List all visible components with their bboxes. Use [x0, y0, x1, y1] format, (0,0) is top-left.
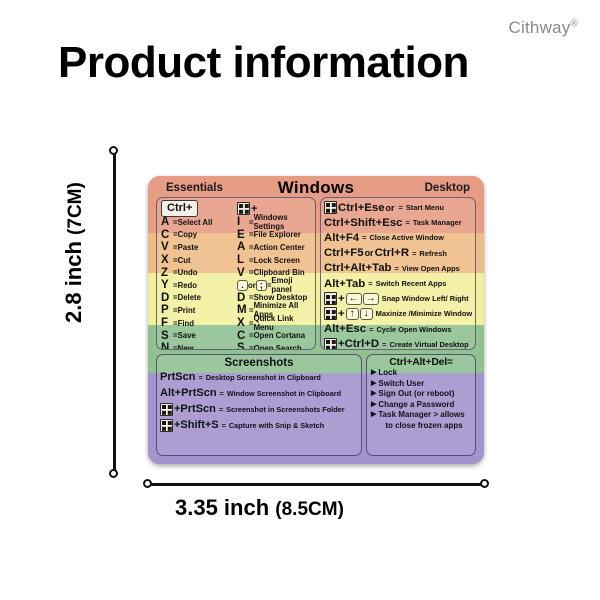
shortcut-description: Desktop Screenshot in Clipboard — [206, 373, 321, 382]
width-ruler-endpoint-right — [480, 479, 489, 488]
shortcut-keys: +Ctrl+D — [338, 338, 379, 350]
shortcut-description: Open Cortana — [254, 331, 306, 340]
shortcut-row: Ctrl+Shift+Esc=Task Manager — [324, 215, 473, 230]
shortcut-key: C — [161, 229, 173, 241]
shortcut-description: Windows Settings — [254, 213, 315, 231]
list-item-label: Switch User — [378, 379, 424, 390]
or-label: or — [248, 281, 256, 290]
shortcut-row: S=Open Search — [237, 342, 315, 350]
registered-mark: ® — [570, 18, 578, 29]
width-ruler-line — [147, 483, 484, 486]
windows-logo-icon — [324, 201, 337, 214]
height-ruler-endpoint-bottom — [109, 469, 118, 478]
shortcut-combo: +←→ — [324, 292, 379, 305]
shortcut-key: N — [161, 342, 173, 350]
shortcut-row: C=Open Cortana — [237, 329, 315, 342]
shortcut-key: C — [237, 330, 249, 342]
shortcut-key: D — [237, 292, 249, 304]
plus-sign: + — [338, 293, 345, 305]
equals-sign: = — [368, 279, 372, 288]
shortcut-key: A — [237, 241, 249, 253]
or-label: or — [365, 248, 374, 258]
shortcut-keys: Ctrl+Ese — [338, 202, 385, 214]
shortcut-combo: +↑↓ — [324, 307, 373, 320]
plus-sign: + — [338, 308, 345, 320]
shortcut-key: A — [161, 216, 173, 228]
shortcut-row: Ctrl+Ese or =Start Menu — [324, 200, 473, 215]
bullet-triangle-icon: ▶ — [371, 368, 376, 379]
shortcut-description: Snap Window Left/ Right — [382, 294, 469, 303]
equals-sign: = — [362, 233, 366, 242]
shortcut-description: Open Search — [254, 344, 302, 350]
ctrl-shortcut-list: A=Select AllC=CopyV=PasteX=CutZ=UndoY=Re… — [161, 216, 235, 350]
shortcut-description: Undo — [178, 268, 198, 277]
shortcut-keys: +Shift+S — [174, 419, 219, 431]
shortcut-row: . or ;=Emoji panel — [237, 279, 315, 292]
arrow-keycap: ↓ — [360, 308, 373, 320]
width-ruler-endpoint-left — [143, 479, 152, 488]
shortcut-key: V — [237, 267, 249, 279]
windows-logo-icon — [324, 292, 337, 305]
shortcut-keys: Ctrl+F5 — [324, 247, 364, 259]
shortcut-keys: Ctrl+Shift+Esc — [324, 217, 403, 229]
shortcut-combo: Alt+PrtScn — [160, 387, 217, 399]
shortcut-description: Print — [178, 306, 196, 315]
equals-sign: = — [382, 340, 386, 349]
shortcut-description: Window Screenshot in Clipboard — [227, 389, 341, 398]
shortcut-description: Action Center — [254, 243, 305, 252]
windows-logo-icon — [324, 307, 337, 320]
brand-name: Cithway — [509, 18, 571, 37]
shortcut-description: Save — [178, 331, 196, 340]
equals-sign: = — [395, 264, 399, 273]
windows-logo-icon — [237, 202, 250, 215]
essentials-win-column: + I=Windows SettingsE=File ExplorerA=Act… — [237, 201, 315, 350]
width-inch-value: 3.35 inch — [175, 495, 269, 520]
windows-logo-icon — [160, 403, 173, 416]
shortcut-combo: Alt+Esc — [324, 323, 366, 335]
screenshots-title: Screenshots — [157, 357, 361, 369]
shortcut-keys: Alt+Tab — [324, 278, 365, 290]
shortcut-combo: +PrtScn — [160, 403, 216, 416]
equals-sign: = — [399, 203, 403, 212]
panel-desktop: Ctrl+Ese or =Start MenuCtrl+Shift+Esc=Ta… — [320, 197, 476, 350]
bullet-triangle-icon: ▶ — [371, 389, 376, 400]
shortcut-description: Task Manager — [413, 218, 462, 227]
width-dimension-label: 3.35 inch (8.5CM) — [175, 495, 344, 521]
shortcut-description: Switch Recent Apps — [376, 279, 447, 288]
list-item: ▶Switch User — [367, 379, 475, 390]
shortcut-key: X — [237, 317, 249, 329]
bullet-triangle-icon: ▶ — [371, 410, 376, 421]
shortcut-description: Close Active Window — [369, 233, 443, 242]
shortcut-combo: +Ctrl+D — [324, 338, 379, 350]
shortcut-combo: +Shift+S — [160, 419, 219, 432]
desktop-shortcut-list: Ctrl+Ese or =Start MenuCtrl+Shift+Esc=Ta… — [324, 200, 473, 350]
shortcut-combo: Ctrl+Ese or — [324, 201, 396, 214]
shortcut-row: +←→Snap Window Left/ Right — [324, 291, 473, 306]
shortcut-description: Cut — [178, 256, 191, 265]
width-cm-value: (8.5CM) — [275, 499, 344, 520]
equals-sign: = — [220, 389, 224, 398]
height-inch-value: 2.8 inch — [61, 241, 86, 323]
list-item: ▶Task Manager > allows — [367, 410, 475, 421]
shortcut-description: Create Virtual Desktop — [389, 340, 468, 349]
shortcut-row: C=Copy — [161, 229, 235, 242]
shortcut-description: Refresh — [419, 249, 447, 258]
ctrl-alt-del-list: ▶Lock▶Switch User▶Sign Out (or reboot)▶C… — [367, 368, 475, 421]
section-label-desktop: Desktop — [425, 182, 470, 194]
shortcut-key: D — [161, 292, 173, 304]
shortcut-description: Select All — [178, 218, 213, 227]
shortcut-row: N=New — [161, 342, 235, 350]
list-item: ▶Change a Password — [367, 400, 475, 411]
shortcut-key: S — [237, 342, 249, 350]
equals-sign: = — [198, 373, 202, 382]
panel-ctrl-alt-del: Ctrl+Alt+Del= ▶Lock▶Switch User▶Sign Out… — [366, 354, 476, 456]
bullet-triangle-icon: ▶ — [371, 379, 376, 390]
brand-logo: Cithway® — [509, 18, 578, 38]
shortcut-combo: PrtScn — [160, 371, 195, 383]
shortcut-description: Paste — [178, 243, 199, 252]
shortcut-row: V=Paste — [161, 241, 235, 254]
shortcut-description: Quick Link Menu — [254, 314, 315, 332]
shortcut-row: A=Action Center — [237, 241, 315, 254]
shortcut-key: V — [161, 241, 173, 253]
shortcut-row: +↑↓Maxinize /Minimize Window — [324, 306, 473, 321]
shortcut-row: X=Quick Link Menu — [237, 317, 315, 330]
shortcut-row: X=Cut — [161, 254, 235, 267]
shortcut-row: +Shift+S=Capture with Snip & Sketch — [157, 417, 361, 433]
height-cm-value: (7CM) — [65, 182, 86, 235]
arrow-keycap: ↑ — [346, 308, 359, 320]
shortcut-description: Find — [178, 319, 194, 328]
ctrl-alt-del-continuation: to close frozen apps — [367, 421, 475, 431]
shortcut-description: Screenshot in Screenshots Folder — [226, 405, 344, 414]
shortcut-row: I=Windows Settings — [237, 216, 315, 229]
shortcut-keys: Ctrl+Alt+Tab — [324, 262, 392, 274]
shortcut-key: Z — [161, 267, 173, 279]
shortcut-combo: Alt+F4 — [324, 232, 359, 244]
shortcut-keys: Alt+PrtScn — [160, 387, 217, 399]
keycap: ; — [256, 280, 267, 291]
essentials-ctrl-column: Ctrl+ A=Select AllC=CopyV=PasteX=CutZ=Un… — [161, 201, 235, 350]
shortcut-description: Delete — [178, 293, 201, 302]
ctrl-key-header: Ctrl+ — [161, 201, 235, 216]
shortcut-combo: Ctrl+Alt+Tab — [324, 262, 392, 274]
shortcut-description: Lock Screen — [254, 256, 300, 265]
list-item: ▶Sign Out (or reboot) — [367, 389, 475, 400]
screenshots-shortcut-list: PrtScn=Desktop Screenshot in ClipboardAl… — [157, 369, 361, 433]
shortcut-key: L — [237, 254, 249, 266]
height-dimension-label: 2.8 inch (7CM) — [61, 203, 87, 323]
arrow-keycap: ← — [346, 293, 362, 305]
equals-sign: = — [412, 249, 416, 258]
height-ruler-endpoint-top — [109, 146, 118, 155]
shortcut-row: Alt+Tab=Switch Recent Apps — [324, 276, 473, 291]
windows-logo-icon — [324, 338, 337, 350]
shortcut-row: Ctrl+Alt+Tab=View Open Apps — [324, 261, 473, 276]
shortcut-row: L=Lock Screen — [237, 254, 315, 267]
shortcut-sticker-card: Essentials Windows Desktop Ctrl+ A=Selec… — [148, 176, 484, 464]
panel-screenshots: Screenshots PrtScn=Desktop Screenshot in… — [156, 354, 362, 456]
list-item-label: Change a Password — [378, 400, 454, 411]
shortcut-keys: Ctrl+R — [375, 247, 410, 259]
shortcut-row: D=Delete — [161, 292, 235, 305]
shortcut-keys: Alt+F4 — [324, 232, 359, 244]
or-label: or — [386, 203, 395, 213]
shortcut-key: X — [161, 254, 173, 266]
shortcut-row: S=Save — [161, 329, 235, 342]
shortcut-key: Y — [161, 279, 173, 291]
shortcut-row: +Ctrl+D=Create Virtual Desktop — [324, 337, 473, 350]
shortcut-description: Capture with Snip & Sketch — [229, 421, 324, 430]
shortcut-key: I — [237, 216, 249, 228]
shortcut-row: P=Print — [161, 304, 235, 317]
keycap: . — [237, 280, 248, 291]
shortcut-description: View Open Apps — [402, 264, 460, 273]
shortcut-row: +PrtScn=Screenshot in Screenshots Folder — [157, 401, 361, 417]
win-shortcut-list: I=Windows SettingsE=File ExplorerA=Actio… — [237, 216, 315, 350]
list-item-label: Task Manager > allows — [378, 410, 464, 421]
shortcut-combo: Alt+Tab — [324, 278, 365, 290]
shortcut-key: P — [161, 304, 173, 316]
equals-sign: = — [219, 405, 223, 414]
shortcut-description: File Explorer — [254, 230, 301, 239]
equals-sign: = — [406, 218, 410, 227]
shortcut-row: Y=Redo — [161, 279, 235, 292]
shortcut-combo: Ctrl+Shift+Esc — [324, 217, 403, 229]
shortcut-keys: +PrtScn — [174, 403, 216, 415]
page-title: Product information — [58, 38, 469, 88]
ctrl-keycap: Ctrl+ — [161, 200, 198, 217]
shortcut-row: Ctrl+F5 or Ctrl+R=Refresh — [324, 246, 473, 261]
shortcut-key: E — [237, 229, 249, 241]
arrow-keycap: → — [363, 293, 379, 305]
equals-sign: = — [222, 421, 226, 430]
shortcut-combo: Ctrl+F5 or Ctrl+R — [324, 247, 409, 259]
bullet-triangle-icon: ▶ — [371, 400, 376, 411]
shortcut-row: F=Find — [161, 317, 235, 330]
ctrl-alt-del-title: Ctrl+Alt+Del= — [367, 357, 475, 368]
shortcut-key: M — [237, 304, 249, 316]
shortcut-description: New — [178, 344, 194, 350]
list-item: ▶Lock — [367, 368, 475, 379]
list-item-label: Sign Out (or reboot) — [378, 389, 454, 400]
shortcut-row: PrtScn=Desktop Screenshot in Clipboard — [157, 369, 361, 385]
shortcut-row: Alt+Esc=Cycle Open Windows — [324, 322, 473, 337]
shortcut-description: Copy — [178, 230, 198, 239]
shortcut-description: Emoji panel — [271, 276, 315, 294]
shortcut-description: Redo — [178, 281, 198, 290]
shortcut-description: Cycle Open Windows — [376, 325, 451, 334]
shortcut-key: S — [161, 330, 173, 342]
equals-sign: = — [369, 325, 373, 334]
shortcut-keys: Alt+Esc — [324, 323, 366, 335]
shortcut-row: Alt+F4=Close Active Window — [324, 230, 473, 245]
shortcut-row: A=Select All — [161, 216, 235, 229]
panel-essentials: Ctrl+ A=Select AllC=CopyV=PasteX=CutZ=Un… — [156, 197, 316, 350]
shortcut-row: Z=Undo — [161, 266, 235, 279]
shortcut-key: F — [161, 317, 173, 329]
shortcut-keys: PrtScn — [160, 371, 195, 383]
shortcut-description: Start Menu — [406, 203, 444, 212]
card-title-row: Essentials Windows Desktop — [148, 178, 484, 197]
windows-logo-icon — [160, 419, 173, 432]
list-item-label: Lock — [378, 368, 397, 379]
shortcut-row: Alt+PrtScn=Window Screenshot in Clipboar… — [157, 385, 361, 401]
height-ruler-line — [113, 150, 116, 473]
shortcut-description: Maxinize /Minimize Window — [376, 309, 472, 318]
